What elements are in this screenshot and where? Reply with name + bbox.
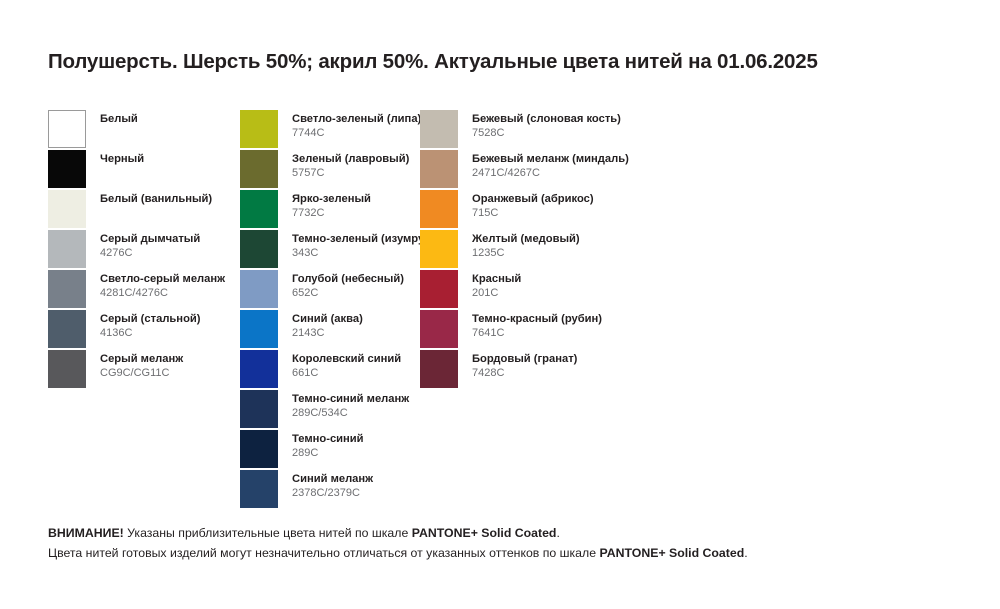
color-swatch [240,270,278,308]
color-swatch [240,350,278,388]
swatch-columns: БелыйЧерныйБелый (ванильный)Серый дымчат… [48,110,968,510]
color-swatch [48,150,86,188]
swatch-pantone-code: 2143C [292,327,363,340]
color-swatch [420,150,458,188]
swatch-column-3: Бежевый (слоновая кость)7528CБежевый мел… [420,110,720,510]
page-title: Полушерсть. Шерсть 50%; акрил 50%. Актуа… [48,50,818,74]
swatch-row: Голубой (небесный)652C [240,270,420,310]
swatch-text: Бежевый (слоновая кость)7528C [472,110,621,140]
swatch-text: Бордовый (гранат)7428C [472,350,577,380]
color-swatch [48,110,86,148]
swatch-name: Желтый (медовый) [472,233,580,246]
color-swatch [420,110,458,148]
swatch-name: Синий (аква) [292,313,363,326]
swatch-pantone-code: 201C [472,287,521,300]
swatch-row: Красный201C [420,270,720,310]
swatch-row: Светло-серый меланж4281C/4276C [48,270,240,310]
swatch-row: Бордовый (гранат)7428C [420,350,720,390]
color-swatch [48,230,86,268]
swatch-row: Бежевый меланж (миндаль)2471C/4267C [420,150,720,190]
swatch-name: Темно-красный (рубин) [472,313,602,326]
swatch-text: Серый дымчатый4276C [100,230,200,260]
swatch-row: Светло-зеленый (липа)7744C [240,110,420,150]
swatch-pantone-code: 289C/534C [292,407,409,420]
swatch-pantone-code: 5757C [292,167,409,180]
footer-line-2: Цвета нитей готовых изделий могут незнач… [48,544,958,564]
footer-line-2-end: . [744,546,747,560]
color-swatch [420,190,458,228]
swatch-pantone-code: 7641C [472,327,602,340]
swatch-row: Бежевый (слоновая кость)7528C [420,110,720,150]
footer-line-1-text: Указаны приблизительные цвета нитей по ш… [124,526,412,540]
swatch-name: Серый (стальной) [100,313,201,326]
swatch-pantone-code: 4276C [100,247,200,260]
swatch-name: Белый [100,113,138,126]
color-swatch [420,270,458,308]
footer-line-1: ВНИМАНИЕ! Указаны приблизительные цвета … [48,524,958,544]
swatch-row: Зеленый (лавровый)5757C [240,150,420,190]
swatch-pantone-code: 7732C [292,207,371,220]
footer-attention-label: ВНИМАНИЕ! [48,526,124,540]
color-swatch [240,230,278,268]
swatch-row: Темно-синий меланж289C/534C [240,390,420,430]
color-swatch [240,150,278,188]
swatch-text: Зеленый (лавровый)5757C [292,150,409,180]
swatch-name: Бордовый (гранат) [472,353,577,366]
footer-line-1-end: . [556,526,559,540]
swatch-text: Светло-зеленый (липа)7744C [292,110,421,140]
swatch-name: Королевский синий [292,353,401,366]
swatch-pantone-code: 715C [472,207,594,220]
swatch-pantone-code: 2471C/4267C [472,167,629,180]
swatch-text: Темно-зеленый (изумруд)343C [292,230,435,260]
swatch-name: Ярко-зеленый [292,193,371,206]
swatch-text: Желтый (медовый)1235C [472,230,580,260]
color-swatch [240,310,278,348]
color-swatch [420,310,458,348]
swatch-pantone-code: 289C [292,447,364,460]
swatch-row: Темно-синий289C [240,430,420,470]
swatch-row: Королевский синий661C [240,350,420,390]
swatch-column-2: Светло-зеленый (липа)7744CЗеленый (лавро… [240,110,420,510]
swatch-text: Белый (ванильный) [100,190,212,206]
swatch-text: Черный [100,150,144,166]
swatch-name: Серый меланж [100,353,183,366]
swatch-text: Королевский синий661C [292,350,401,380]
swatch-text: Темно-красный (рубин)7641C [472,310,602,340]
color-swatch [48,350,86,388]
swatch-row: Серый меланжCG9C/CG11C [48,350,240,390]
swatch-row: Серый (стальной)4136C [48,310,240,350]
footer-line-2-text: Цвета нитей готовых изделий могут незнач… [48,546,599,560]
swatch-name: Синий меланж [292,473,373,486]
swatch-pantone-code: 2378C/2379C [292,487,373,500]
swatch-text: Темно-синий289C [292,430,364,460]
swatch-pantone-code: 4281C/4276C [100,287,225,300]
swatch-name: Темно-синий меланж [292,393,409,406]
swatch-pantone-code: 7428C [472,367,577,380]
swatch-text: Бежевый меланж (миндаль)2471C/4267C [472,150,629,180]
color-swatch [240,470,278,508]
swatch-text: Красный201C [472,270,521,300]
swatch-name: Черный [100,153,144,166]
swatch-row: Темно-зеленый (изумруд)343C [240,230,420,270]
swatch-text: Голубой (небесный)652C [292,270,404,300]
swatch-row: Ярко-зеленый7732C [240,190,420,230]
swatch-name: Светло-серый меланж [100,273,225,286]
swatch-text: Светло-серый меланж4281C/4276C [100,270,225,300]
swatch-pantone-code: 4136C [100,327,201,340]
color-swatch [48,190,86,228]
swatch-pantone-code: CG9C/CG11C [100,367,183,380]
color-chart-page: Полушерсть. Шерсть 50%; акрил 50%. Актуа… [0,0,1000,609]
footer-notice: ВНИМАНИЕ! Указаны приблизительные цвета … [48,524,958,564]
swatch-row: Серый дымчатый4276C [48,230,240,270]
swatch-row: Черный [48,150,240,190]
swatch-row: Оранжевый (абрикос)715C [420,190,720,230]
swatch-row: Желтый (медовый)1235C [420,230,720,270]
swatch-text: Серый (стальной)4136C [100,310,201,340]
swatch-name: Зеленый (лавровый) [292,153,409,166]
swatch-pantone-code: 7744C [292,127,421,140]
color-swatch [420,350,458,388]
swatch-text: Темно-синий меланж289C/534C [292,390,409,420]
swatch-column-1: БелыйЧерныйБелый (ванильный)Серый дымчат… [48,110,240,510]
swatch-name: Темно-синий [292,433,364,446]
color-swatch [240,190,278,228]
footer-brand-1: PANTONE+ Solid Coated [412,526,557,540]
color-swatch [48,270,86,308]
swatch-pantone-code: 343C [292,247,435,260]
color-swatch [240,430,278,468]
swatch-row: Синий (аква)2143C [240,310,420,350]
swatch-row: Темно-красный (рубин)7641C [420,310,720,350]
footer-brand-2: PANTONE+ Solid Coated [599,546,744,560]
swatch-name: Светло-зеленый (липа) [292,113,421,126]
swatch-name: Темно-зеленый (изумруд) [292,233,435,246]
color-swatch [240,390,278,428]
color-swatch [420,230,458,268]
swatch-text: Синий (аква)2143C [292,310,363,340]
color-swatch [48,310,86,348]
swatch-name: Бежевый (слоновая кость) [472,113,621,126]
color-swatch [240,110,278,148]
swatch-text: Ярко-зеленый7732C [292,190,371,220]
swatch-pantone-code: 7528C [472,127,621,140]
swatch-pantone-code: 661C [292,367,401,380]
swatch-name: Белый (ванильный) [100,193,212,206]
swatch-text: Оранжевый (абрикос)715C [472,190,594,220]
swatch-name: Серый дымчатый [100,233,200,246]
swatch-row: Белый [48,110,240,150]
swatch-name: Бежевый меланж (миндаль) [472,153,629,166]
swatch-text: Серый меланжCG9C/CG11C [100,350,183,380]
swatch-name: Голубой (небесный) [292,273,404,286]
swatch-row: Синий меланж2378C/2379C [240,470,420,510]
swatch-text: Синий меланж2378C/2379C [292,470,373,500]
swatch-text: Белый [100,110,138,126]
swatch-name: Красный [472,273,521,286]
swatch-row: Белый (ванильный) [48,190,240,230]
swatch-pantone-code: 1235C [472,247,580,260]
swatch-name: Оранжевый (абрикос) [472,193,594,206]
swatch-pantone-code: 652C [292,287,404,300]
